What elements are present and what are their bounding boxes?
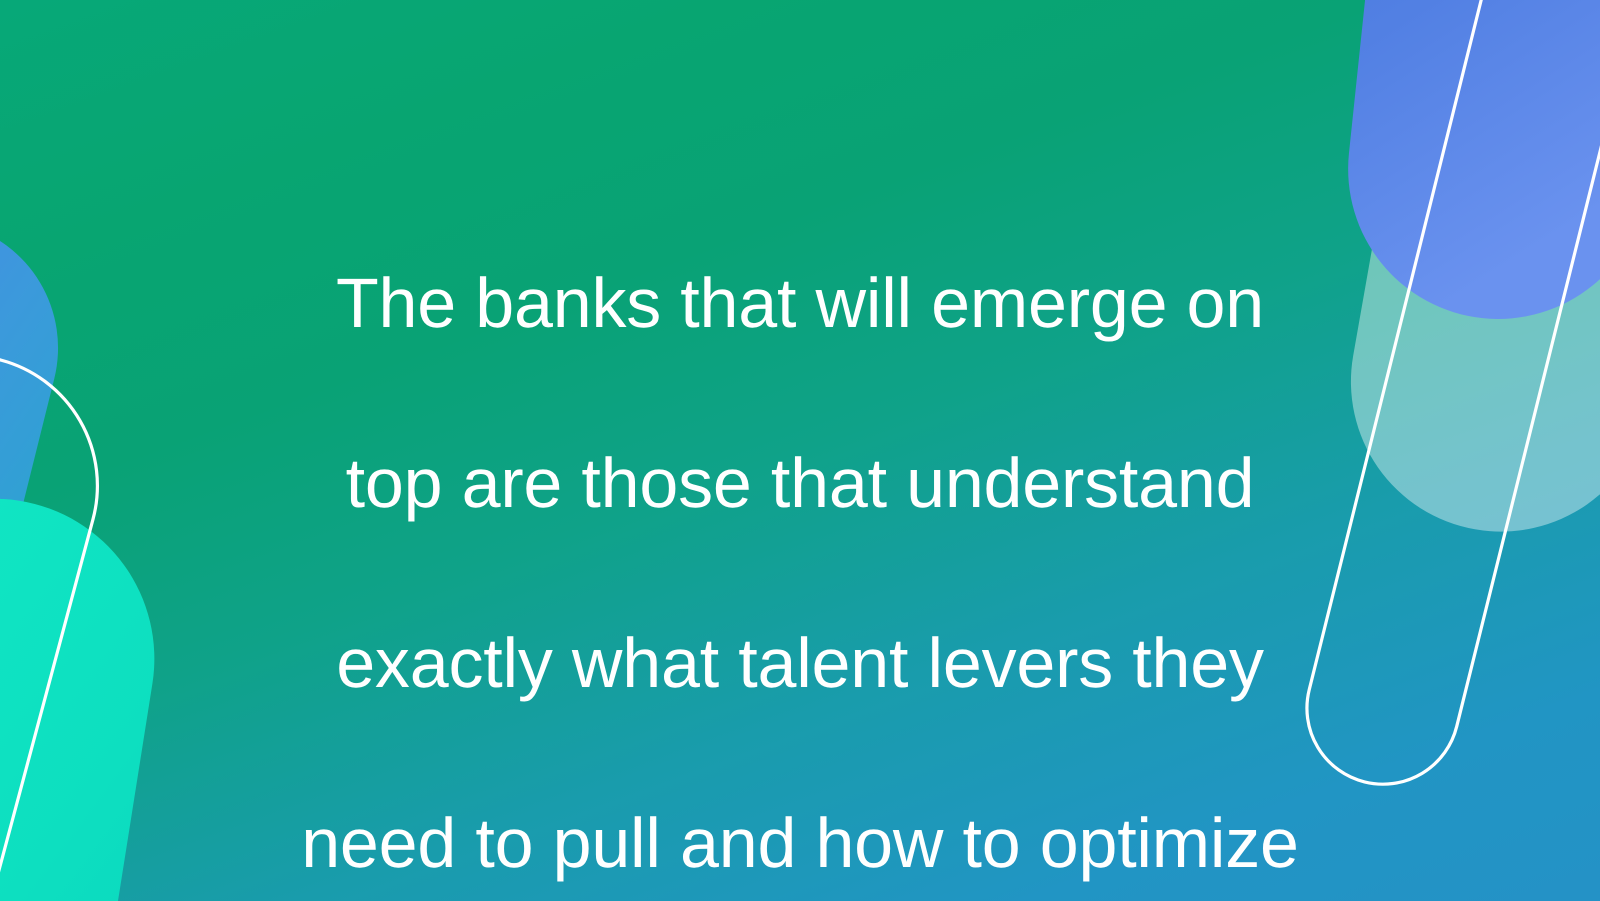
quote-card: The banks that will emerge on top are th…	[0, 0, 1600, 901]
quote-line-2: top are those that understand	[200, 438, 1400, 528]
quote-text: The banks that will emerge on top are th…	[200, 168, 1400, 901]
quote-line-3: exactly what talent levers they	[200, 618, 1400, 708]
quote-line-1: The banks that will emerge on	[200, 258, 1400, 348]
quote-line-4: need to pull and how to optimize	[200, 798, 1400, 888]
